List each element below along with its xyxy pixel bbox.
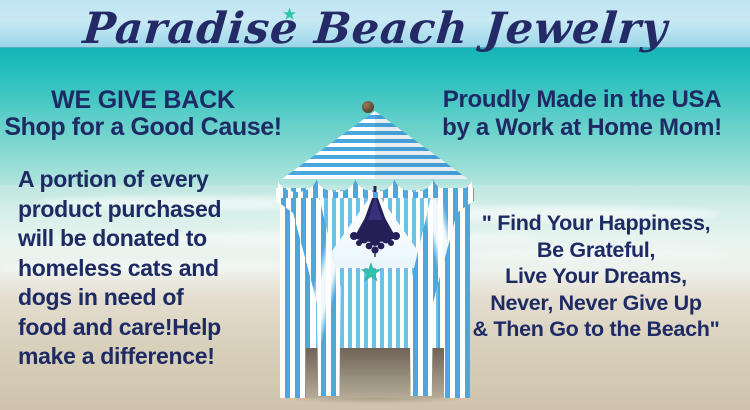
inspirational-quote: " Find Your Happiness, Be Grateful, Live… xyxy=(442,210,750,343)
donation-line: homeless cats and xyxy=(18,254,286,284)
we-give-back-headline: WE GIVE BACK xyxy=(0,86,286,114)
quote-line: & Then Go to the Beach" xyxy=(442,316,750,343)
donation-line: dogs in need of xyxy=(18,283,286,313)
brand-title-container: Paradise Beach Jewelry xyxy=(0,0,750,58)
donation-line: will be donated to xyxy=(18,224,286,254)
teal-starfish-icon xyxy=(360,262,382,284)
title-starfish-icon xyxy=(282,7,297,22)
quote-line: Live Your Dreams, xyxy=(442,263,750,290)
donation-paragraph: A portion of every product purchased wil… xyxy=(18,165,286,372)
page-title: Paradise Beach Jewelry xyxy=(81,6,670,53)
quote-line: Never, Never Give Up xyxy=(442,290,750,317)
donation-line: food and care!Help xyxy=(18,313,286,343)
donation-line: product purchased xyxy=(18,195,286,225)
quote-line: " Find Your Happiness, xyxy=(442,210,750,237)
donation-line: make a difference! xyxy=(18,342,286,372)
quote-line: Be Grateful, xyxy=(442,237,750,264)
beach-cabana-tent xyxy=(276,98,474,398)
paradise-beach-jewelry-banner: Paradise Beach Jewelry WE GIVE BACK Shop… xyxy=(0,0,750,410)
tent-finial xyxy=(362,101,374,113)
tent-valance xyxy=(278,176,472,198)
shop-good-cause-subhead: Shop for a Good Cause! xyxy=(0,113,286,141)
donation-line: A portion of every xyxy=(18,165,286,195)
